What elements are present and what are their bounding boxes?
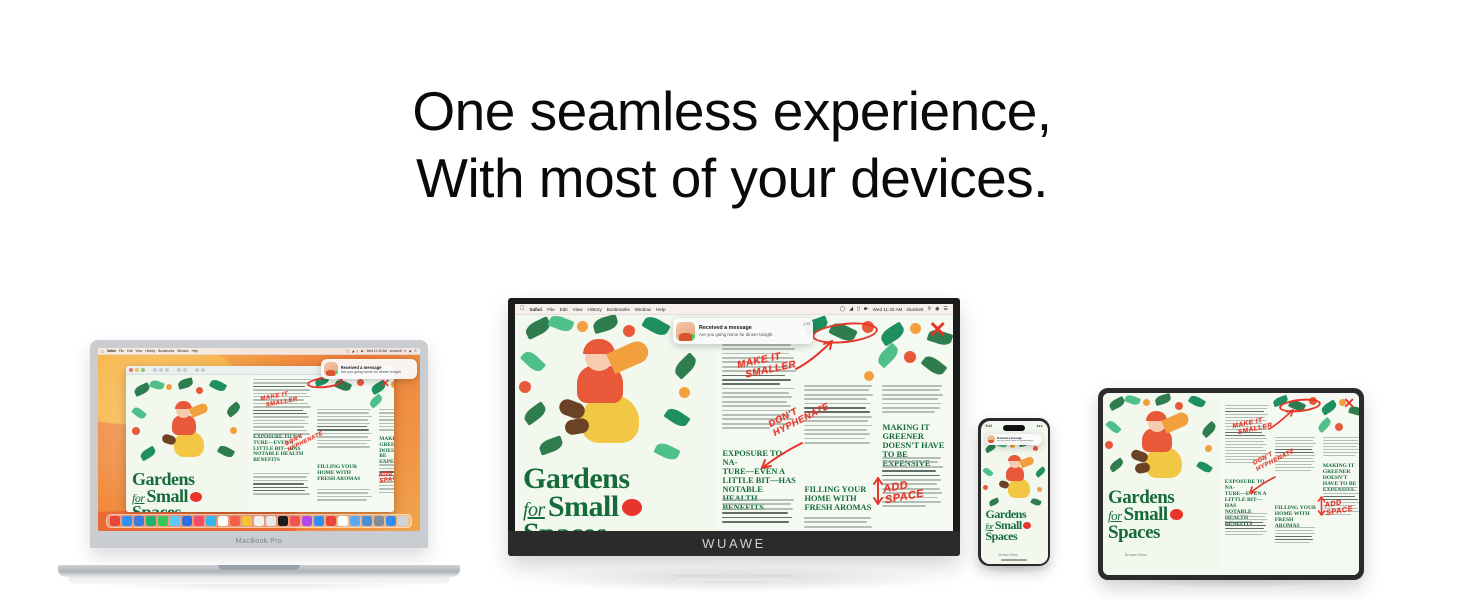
- dock-app-icon[interactable]: [386, 516, 396, 526]
- device-tablet[interactable]: Gardens for Small Spaces Browse Menu: [1098, 388, 1364, 580]
- safari-window[interactable]: Gardens for Small Spaces: [126, 366, 394, 512]
- leaf-decoration: [1034, 466, 1046, 478]
- dynamic-island: [1003, 425, 1025, 431]
- magazine-spread: Gardens for Small Spaces: [515, 315, 953, 533]
- battery-icon[interactable]: ■▫: [361, 349, 364, 353]
- dock-app-icon[interactable]: [398, 516, 408, 526]
- device-monitor[interactable]:  Safari File Edit View History Bookmark…: [508, 298, 960, 581]
- leaf-decoration: [592, 315, 620, 334]
- dock-app-icon[interactable]: [158, 516, 168, 526]
- magazine-spread: Gardens for Small Spaces Browse Menu: [1103, 393, 1359, 575]
- body-text-block: [317, 409, 373, 450]
- macbook-model-label: MacBook Pro: [90, 538, 428, 545]
- menubar-user[interactable]: shackett: [390, 349, 402, 353]
- magazine-left-page: Gardens for Small Spaces: [126, 375, 249, 512]
- menu-item-safari[interactable]: Safari: [530, 307, 543, 312]
- berry-decoration: [679, 387, 690, 398]
- home-indicator: [1001, 559, 1027, 561]
- phone-body: 9:41 ●●●: [978, 418, 1050, 566]
- magazine-title: Gardens for Small Spaces: [986, 509, 1032, 542]
- berry-decoration: [391, 381, 394, 388]
- notification-body: Are you going home for dinner tonight: [699, 332, 799, 337]
- leaf-decoration: [521, 401, 548, 426]
- magazine-byline: Browse Menu: [999, 553, 1019, 557]
- leaf-decoration: [641, 315, 671, 339]
- toolbar-icon[interactable]: [195, 368, 199, 372]
- scribble-decoration: [1023, 522, 1031, 529]
- macbook-base: [58, 565, 460, 577]
- leaf-decoration: [1108, 396, 1126, 411]
- monitor-chin: WUAWE: [508, 531, 960, 556]
- menu-item-safari[interactable]: Safari: [107, 349, 116, 353]
- berry-decoration: [1105, 441, 1113, 449]
- avatar: [676, 322, 695, 341]
- heading-line: LITTLE BIT—HAS: [1225, 497, 1271, 509]
- gardener-illustration: [1131, 411, 1189, 481]
- leaf-decoration: [672, 352, 700, 379]
- device-phone[interactable]: 9:41 ●●●: [978, 418, 1050, 566]
- magazine-heading-2: FILLING YOUR HOME WITH FRESH AROMAS: [804, 485, 874, 512]
- heading-line: MAKING IT GREENER: [1323, 463, 1359, 475]
- traffic-light-min-icon[interactable]: [135, 368, 139, 372]
- messages-badge-icon: [688, 334, 695, 341]
- leaf-decoration: [520, 348, 546, 374]
- monitor-screen:  Safari File Edit View History Bookmark…: [515, 304, 953, 533]
- berry-decoration: [196, 387, 203, 394]
- leaf-decoration: [1200, 421, 1218, 439]
- clock-icon[interactable]: ◯: [346, 349, 350, 353]
- menu-item-history[interactable]: History: [587, 307, 601, 312]
- magazine-title: Gardens for Small Spaces: [1108, 489, 1183, 541]
- leaf-decoration: [875, 342, 901, 368]
- notification-title: Received a message: [699, 325, 799, 331]
- berry-decoration: [983, 485, 988, 490]
- body-text-block: [253, 473, 311, 497]
- annotation-arrow-icon: [758, 441, 804, 471]
- macbook-lid:  Safari File Edit View History Bookmark…: [90, 340, 428, 548]
- leaf-decoration: [139, 446, 157, 462]
- macbook-screen:  Safari File Edit View History Bookmark…: [98, 348, 420, 531]
- berry-decoration: [230, 427, 237, 434]
- monitor-stand: [674, 575, 794, 581]
- heading-line: FRESH AROMAS: [317, 477, 373, 483]
- menu-item-window[interactable]: Window: [635, 307, 651, 312]
- berry-decoration: [910, 323, 921, 334]
- messages-badge-icon: [333, 371, 338, 376]
- menu-item-help[interactable]: Help: [656, 307, 665, 312]
- dock-app-icon[interactable]: [242, 516, 252, 526]
- menu-item-edit[interactable]: Edit: [127, 349, 133, 353]
- magazine-heading-2: FILLING YOUR HOME WITH FRESH AROMAS: [1275, 505, 1317, 529]
- dock-app-icon[interactable]: [146, 516, 156, 526]
- body-text-block: [1225, 513, 1269, 537]
- berry-decoration: [577, 321, 588, 332]
- notification-text: Received a message Are you going home fo…: [699, 325, 799, 337]
- heading-line: MAKING IT GREENER: [882, 423, 946, 441]
- menu-item-view[interactable]: View: [573, 307, 583, 312]
- leaf-decoration: [368, 393, 384, 408]
- dock-app-icon[interactable]: [338, 516, 348, 526]
- leaf-decoration: [217, 444, 235, 460]
- leaf-decoration: [131, 405, 147, 420]
- dock-app-icon[interactable]: [230, 516, 240, 526]
- macbook-foot: [68, 577, 450, 584]
- berry-decoration: [1143, 399, 1150, 406]
- magazine-title: Gardens for Small Spaces: [523, 465, 642, 533]
- menu-item-bookmarks[interactable]: Bookmarks: [607, 307, 630, 312]
- menu-item-help[interactable]: Help: [192, 349, 199, 353]
- magazine-heading-2: FILLING YOUR HOME WITH FRESH AROMAS: [317, 465, 373, 482]
- menu-item-bookmarks[interactable]: Bookmarks: [158, 349, 174, 353]
- leaf-decoration: [547, 315, 574, 334]
- scribble-decoration: [190, 492, 202, 502]
- device-lineup:  Safari File Edit View History Bookmark…: [0, 0, 1464, 600]
- leaf-decoration: [663, 405, 690, 429]
- toolbar-icon[interactable]: [165, 368, 169, 372]
- dock-app-icon[interactable]: [254, 516, 264, 526]
- avatar: [324, 362, 338, 376]
- dock-app-icon[interactable]: [218, 516, 228, 526]
- gardener-illustration: [559, 339, 651, 447]
- gardener-illustration: [162, 401, 208, 459]
- leaf-decoration: [1108, 457, 1125, 472]
- magazine-title-line-3: Spaces: [1108, 524, 1183, 541]
- wifi-icon[interactable]: ◢: [352, 349, 354, 353]
- heading-line: MAKING IT GREENER: [379, 437, 394, 449]
- heading-line: DOESN'T HAVE TO BE: [1323, 475, 1359, 487]
- leaf-decoration: [982, 466, 993, 477]
- magazine-title-line-2: Small: [548, 493, 619, 521]
- device-macbook[interactable]:  Safari File Edit View History Bookmark…: [58, 340, 460, 585]
- menubar-clock[interactable]: Wed 11:42 AM: [873, 307, 903, 312]
- leaf-decoration: [1154, 393, 1172, 406]
- menubar-user[interactable]: shackett: [906, 307, 923, 312]
- magazine-title-line-3: Spaces: [132, 504, 202, 512]
- berry-decoration: [132, 427, 140, 435]
- leaf-decoration: [1188, 394, 1206, 410]
- heading-line: FILLING YOUR: [804, 485, 874, 494]
- menu-item-file[interactable]: File: [547, 307, 554, 312]
- leaf-decoration: [149, 379, 165, 391]
- leaf-decoration: [1196, 459, 1213, 474]
- wifi-icon[interactable]: ◢: [849, 306, 853, 312]
- dock-app-icon[interactable]: [374, 516, 384, 526]
- leaf-decoration: [133, 382, 151, 397]
- berry-decoration: [904, 351, 916, 363]
- leaf-decoration: [921, 353, 948, 378]
- dock-app-icon[interactable]: [266, 516, 276, 526]
- toolbar-icon[interactable]: [177, 368, 181, 372]
- siri-icon[interactable]: ☰: [414, 349, 417, 353]
- magazine-title-line-1: Gardens: [523, 465, 642, 493]
- magazine-title-for: for: [1108, 510, 1122, 522]
- notification-time: just: [803, 321, 810, 326]
- menu-item-edit[interactable]: Edit: [560, 307, 568, 312]
- magazine-title-line-3: Spaces: [986, 531, 1032, 542]
- magazine-right-page: EXPOSURE TO NA- TURE—EVEN A LITTLE BIT—H…: [1221, 393, 1359, 575]
- battery-icon[interactable]: ■▫: [864, 306, 869, 312]
- leaf-decoration: [1316, 417, 1332, 433]
- notification-text: Received a message Are you going home fo…: [997, 437, 1041, 442]
- berry-decoration: [519, 381, 531, 393]
- dock-app-icon[interactable]: [326, 516, 336, 526]
- leaf-decoration: [209, 378, 227, 393]
- dock-app-icon[interactable]: [302, 516, 312, 526]
- leaf-decoration: [1320, 399, 1338, 415]
- control-center-icon[interactable]: ◉: [409, 349, 412, 353]
- menu-item-view[interactable]: View: [136, 349, 143, 353]
- toolbar-icon[interactable]: [201, 368, 205, 372]
- berry-decoration: [1037, 487, 1042, 492]
- magazine-left-page: Gardens for Small Spaces: [515, 315, 716, 533]
- annotation-double-arrow-icon: [872, 475, 884, 507]
- magazine-right-page: EXPOSURE TO NA- TURE—EVEN A LITTLE BIT—H…: [716, 315, 953, 533]
- screen-mirroring-icon[interactable]: ▯: [357, 349, 359, 353]
- macos-dock[interactable]: [106, 514, 412, 528]
- magazine-byline: Browse Menu: [1125, 553, 1147, 557]
- body-text-block: [804, 517, 874, 530]
- berry-decoration: [864, 371, 874, 381]
- phone-status-time: 9:41: [986, 424, 993, 428]
- search-icon[interactable]: ⚲: [404, 349, 406, 353]
- apple-logo-icon: : [101, 349, 104, 354]
- body-text-block: [317, 489, 373, 503]
- body-text-block: [1275, 527, 1317, 545]
- body-text-block: [1323, 437, 1359, 458]
- toolbar-icon[interactable]: [153, 368, 157, 372]
- scribble-decoration: [1170, 509, 1183, 520]
- annotation-delete-mark: ✕: [929, 319, 947, 341]
- dock-app-icon[interactable]: [206, 516, 216, 526]
- control-center-icon[interactable]: ◉: [935, 306, 939, 312]
- siri-icon[interactable]: ☰: [944, 306, 948, 312]
- magazine-page: Gardens for Small Spaces Browse Menu: [981, 431, 1048, 564]
- monitor-brand-label: WUAWE: [702, 536, 766, 551]
- macos-menubar:  Safari File Edit View History Bookmark…: [515, 304, 953, 315]
- dock-app-icon[interactable]: [290, 516, 300, 526]
- notification-toast[interactable]: Received a message Are you going home fo…: [986, 434, 1042, 445]
- body-text-block: [379, 409, 394, 433]
- notification-text: Received a message Are you going home fo…: [341, 365, 415, 374]
- phone-screen: 9:41 ●●●: [981, 421, 1048, 564]
- magazine-spread: Gardens for Small Spaces: [126, 375, 394, 512]
- leaf-decoration: [1124, 393, 1141, 406]
- magazine-right-page: EXPOSURE TO NA- TURE—EVEN A LITTLE BIT—H…: [249, 375, 394, 512]
- berry-decoration: [1175, 402, 1183, 410]
- berry-decoration: [357, 379, 364, 386]
- clock-icon[interactable]: ◯: [840, 306, 846, 312]
- gardener-illustration: [999, 455, 1033, 499]
- apple-logo-icon: : [520, 306, 525, 312]
- menu-item-history[interactable]: History: [145, 349, 155, 353]
- toolbar-icon[interactable]: [183, 368, 187, 372]
- dock-app-icon[interactable]: [134, 516, 144, 526]
- magazine-title: Gardens for Small Spaces: [132, 471, 202, 512]
- heading-line: FRESH AROMAS: [804, 503, 874, 512]
- berry-decoration: [1205, 445, 1212, 452]
- annotation-delete-mark: ✕: [1343, 396, 1355, 410]
- monitor-shell:  Safari File Edit View History Bookmark…: [508, 298, 960, 556]
- dock-app-icon[interactable]: [362, 516, 372, 526]
- macos-menubar:  Safari File Edit View History Bookmark…: [98, 348, 420, 355]
- dock-app-icon[interactable]: [110, 516, 120, 526]
- dock-app-icon[interactable]: [194, 516, 204, 526]
- leaf-decoration: [177, 377, 194, 389]
- dock-app-icon[interactable]: [350, 516, 360, 526]
- berry-decoration: [1033, 446, 1038, 451]
- toolbar-icon[interactable]: [159, 368, 163, 372]
- berry-decoration: [623, 325, 635, 337]
- menu-item-file[interactable]: File: [119, 349, 124, 353]
- search-icon[interactable]: ⚲: [927, 306, 931, 312]
- heading-line: BENEFITS: [253, 458, 313, 464]
- dock-app-icon[interactable]: [182, 516, 192, 526]
- avatar: [987, 435, 995, 443]
- berry-decoration: [1335, 423, 1343, 431]
- berry-decoration: [166, 384, 172, 390]
- notification-toast[interactable]: Received a message Are you going home fo…: [321, 359, 417, 379]
- dock-app-icon[interactable]: [278, 516, 288, 526]
- annotation-arrow-icon: [1247, 475, 1277, 495]
- leaf-decoration: [653, 440, 680, 462]
- dock-app-icon[interactable]: [314, 516, 324, 526]
- menu-item-window[interactable]: Window: [177, 349, 188, 353]
- body-text-block: [882, 385, 944, 416]
- notification-body: Are you going home for dinner tonight: [997, 440, 1041, 442]
- notification-toast[interactable]: Received a message Are you going home fo…: [673, 318, 813, 344]
- menubar-clock[interactable]: Wed 11:42 AM: [367, 349, 388, 353]
- dock-app-icon[interactable]: [122, 516, 132, 526]
- annotation-double-arrow-icon: [1317, 495, 1326, 517]
- leaf-decoration: [225, 401, 242, 418]
- body-text-block: [722, 499, 796, 525]
- leaf-decoration: [1105, 419, 1121, 435]
- annotation-delete-mark: ✕: [381, 379, 390, 390]
- traffic-light-max-icon[interactable]: [141, 368, 145, 372]
- annotation-add-space: ADD SPACE: [378, 469, 394, 485]
- macbook-trackpad-notch: [218, 565, 300, 570]
- scribble-decoration: [622, 499, 642, 516]
- heading-line: HOME WITH: [804, 494, 874, 503]
- magazine-left-page: Gardens for Small Spaces Browse Menu: [1103, 393, 1221, 575]
- tablet-body: Gardens for Small Spaces Browse Menu: [1098, 388, 1364, 580]
- notification-body: Are you going home for dinner tonight: [341, 370, 415, 374]
- dock-app-icon[interactable]: [170, 516, 180, 526]
- phone-status-indicators: ●●●: [1036, 424, 1042, 428]
- heading-line: LITTLE BIT—HAS: [722, 476, 798, 485]
- tablet-screen: Gardens for Small Spaces Browse Menu: [1103, 393, 1359, 575]
- screen-mirroring-icon[interactable]: ▯: [857, 306, 860, 312]
- traffic-light-close-icon[interactable]: [129, 368, 133, 372]
